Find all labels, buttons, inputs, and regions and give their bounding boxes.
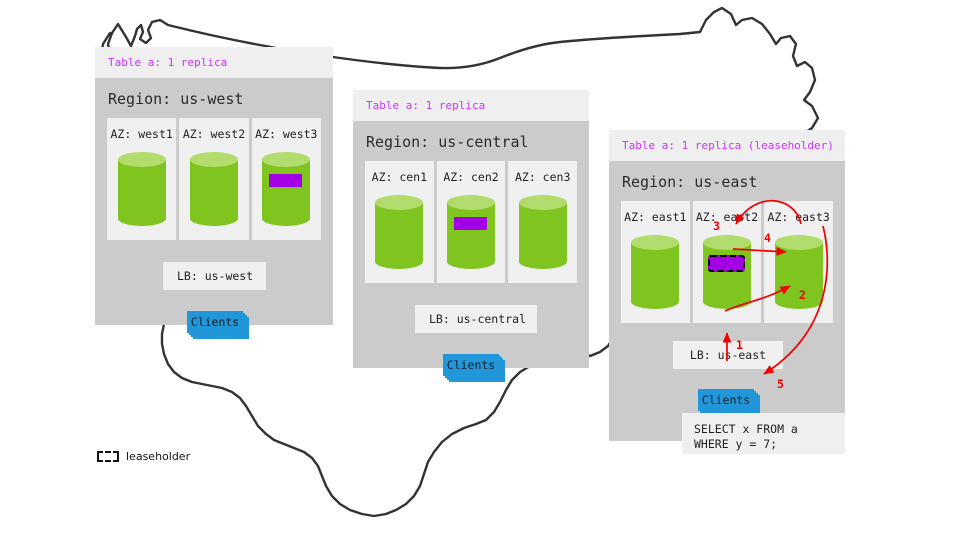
cylinder-top [631,235,679,250]
diagram-canvas: Table a: 1 replica Region: us-west AZ: w… [0,0,960,540]
az-label-east2: AZ: east2 [696,210,758,224]
az-box-west1[interactable]: AZ: west1 [107,118,176,240]
cylinder-top [775,235,823,250]
cylinder-top [118,152,166,167]
node-cylinder-west2[interactable] [190,152,238,226]
cylinder-body [519,202,567,262]
cylinder-top [190,152,238,167]
az-box-cen3[interactable]: AZ: cen3 [508,161,577,283]
az-label-cen1: AZ: cen1 [372,170,427,184]
az-label-east1: AZ: east1 [624,210,686,224]
cylinder-body [447,202,495,262]
az-box-west3[interactable]: AZ: west3 [252,118,321,240]
clients-label-us-west: Clients [187,311,243,333]
az-row-us-west: AZ: west1 AZ: west2 AZ [107,118,321,240]
legend-label: leaseholder [126,450,190,463]
region-cluster-us-east: Table a: 1 replica (leaseholder) Region:… [609,130,845,441]
cylinder-top [447,195,495,210]
az-label-west2: AZ: west2 [183,127,245,141]
region-body-us-east: Region: us-east AZ: east1 AZ: east2 [609,161,845,441]
region-cluster-us-west: Table a: 1 replica Region: us-west AZ: w… [95,47,333,325]
cylinder-body [703,242,751,302]
replica-marker-west3 [269,174,302,187]
node-cylinder-west1[interactable] [118,152,166,226]
replica-marker-cen2 [454,217,487,230]
region-cluster-us-central: Table a: 1 replica Region: us-central AZ… [353,90,589,368]
az-row-us-central: AZ: cen1 AZ: cen2 [365,161,577,283]
load-balancer-us-east[interactable]: LB: us-east [673,341,783,369]
flow-step-number-4: 4 [764,231,771,245]
node-cylinder-east1[interactable] [631,235,679,309]
cylinder-top [703,235,751,250]
cylinder-body [190,159,238,219]
region-title-us-west: Table a: 1 replica [95,47,333,78]
cylinder-body [262,159,310,219]
cylinder-body [375,202,423,262]
region-title-us-central: Table a: 1 replica [353,90,589,121]
leaseholder-marker-east2 [708,255,745,272]
az-box-east2[interactable]: AZ: east2 [693,201,762,323]
sql-query-box: SELECT x FROM a WHERE y = 7; [682,413,845,454]
az-row-us-east: AZ: east1 AZ: east2 [621,201,833,323]
az-box-east1[interactable]: AZ: east1 [621,201,690,323]
flow-step-number-5: 5 [777,377,784,391]
node-cylinder-cen3[interactable] [519,195,567,269]
az-box-east3[interactable]: AZ: east3 [764,201,833,323]
cylinder-top [375,195,423,210]
region-label-us-central: Region: us-central [353,121,589,161]
node-cylinder-west3[interactable] [262,152,310,226]
flow-step-number-3: 3 [713,219,720,233]
clients-label-us-central: Clients [443,354,499,376]
region-label-us-east: Region: us-east [609,161,845,201]
flow-step-number-2: 2 [799,288,806,302]
cylinder-top [262,152,310,167]
az-box-west2[interactable]: AZ: west2 [179,118,248,240]
clients-us-central[interactable]: Clients [443,354,499,376]
az-label-east3: AZ: east3 [768,210,830,224]
clients-us-west[interactable]: Clients [187,311,243,333]
clients-label-us-east: Clients [698,389,754,411]
load-balancer-us-central[interactable]: LB: us-central [415,305,537,333]
az-box-cen1[interactable]: AZ: cen1 [365,161,434,283]
az-label-cen3: AZ: cen3 [515,170,570,184]
node-cylinder-east2[interactable] [703,235,751,309]
region-title-us-east: Table a: 1 replica (leaseholder) [609,130,845,161]
region-body-us-central: Region: us-central AZ: cen1 AZ: cen2 [353,121,589,368]
cylinder-body [118,159,166,219]
legend-leaseholder: leaseholder [97,450,190,463]
node-cylinder-cen1[interactable] [375,195,423,269]
flow-step-number-1: 1 [736,338,743,352]
az-label-west3: AZ: west3 [255,127,317,141]
az-label-west1: AZ: west1 [111,127,173,141]
cylinder-top [519,195,567,210]
clients-us-east[interactable]: Clients [698,389,754,411]
region-label-us-west: Region: us-west [95,78,333,118]
dashed-rect-icon [97,451,119,462]
region-body-us-west: Region: us-west AZ: west1 AZ: west2 [95,78,333,325]
az-box-cen2[interactable]: AZ: cen2 [437,161,506,283]
load-balancer-us-west[interactable]: LB: us-west [163,262,266,290]
cylinder-body [631,242,679,302]
node-cylinder-cen2[interactable] [447,195,495,269]
az-label-cen2: AZ: cen2 [443,170,498,184]
